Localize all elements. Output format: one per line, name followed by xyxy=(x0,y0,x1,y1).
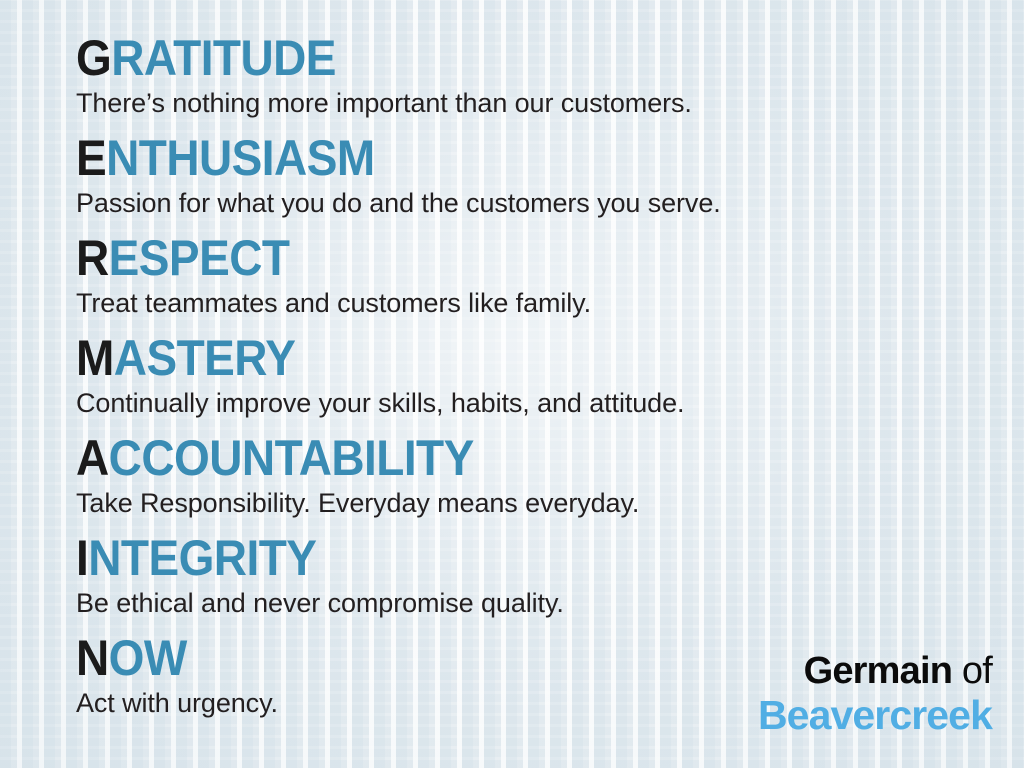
logo-location-name: Beavercreek xyxy=(758,692,992,738)
value-block-mastery: MASTERY Continually improve your skills,… xyxy=(76,332,976,432)
value-description: Continually improve your skills, habits,… xyxy=(76,384,976,420)
value-description: Take Responsibility. Everyday means ever… xyxy=(76,484,976,520)
value-initial-letter: N xyxy=(76,630,109,686)
value-initial-letter: I xyxy=(76,530,88,586)
logo-line-brand: Germain of xyxy=(758,650,992,692)
value-initial-letter: G xyxy=(76,30,111,86)
value-word-enthusiasm: ENTHUSIASM xyxy=(76,132,904,184)
logo-brand-name: Germain xyxy=(804,650,953,692)
value-block-gratitude: GRATITUDE There’s nothing more important… xyxy=(76,32,976,132)
value-description: Passion for what you do and the customer… xyxy=(76,184,976,220)
core-values-list: GRATITUDE There’s nothing more important… xyxy=(76,32,976,732)
logo-connector-word: of xyxy=(952,650,992,692)
value-word-remainder: CCOUNTABILITY xyxy=(109,430,474,486)
value-description: Treat teammates and customers like famil… xyxy=(76,284,976,320)
value-word-gratitude: GRATITUDE xyxy=(76,32,904,84)
value-initial-letter: E xyxy=(76,130,106,186)
value-initial-letter: M xyxy=(76,330,114,386)
value-word-remainder: OW xyxy=(109,630,187,686)
value-description: There’s nothing more important than our … xyxy=(76,84,976,120)
value-word-accountability: ACCOUNTABILITY xyxy=(76,432,904,484)
value-initial-letter: R xyxy=(76,230,109,286)
dealership-logo: Germain of Beavercreek xyxy=(758,650,992,738)
value-word-mastery: MASTERY xyxy=(76,332,904,384)
value-word-remainder: RATITUDE xyxy=(111,30,336,86)
value-word-integrity: INTEGRITY xyxy=(76,532,904,584)
value-initial-letter: A xyxy=(76,430,109,486)
value-description: Be ethical and never compromise quality. xyxy=(76,584,976,620)
value-word-respect: RESPECT xyxy=(76,232,904,284)
value-word-remainder: ASTERY xyxy=(114,330,296,386)
value-word-remainder: NTEGRITY xyxy=(88,530,316,586)
value-block-enthusiasm: ENTHUSIASM Passion for what you do and t… xyxy=(76,132,976,232)
value-block-accountability: ACCOUNTABILITY Take Responsibility. Ever… xyxy=(76,432,976,532)
value-block-respect: RESPECT Treat teammates and customers li… xyxy=(76,232,976,332)
value-word-remainder: NTHUSIASM xyxy=(106,130,374,186)
value-word-remainder: ESPECT xyxy=(109,230,290,286)
value-block-integrity: INTEGRITY Be ethical and never compromis… xyxy=(76,532,976,632)
